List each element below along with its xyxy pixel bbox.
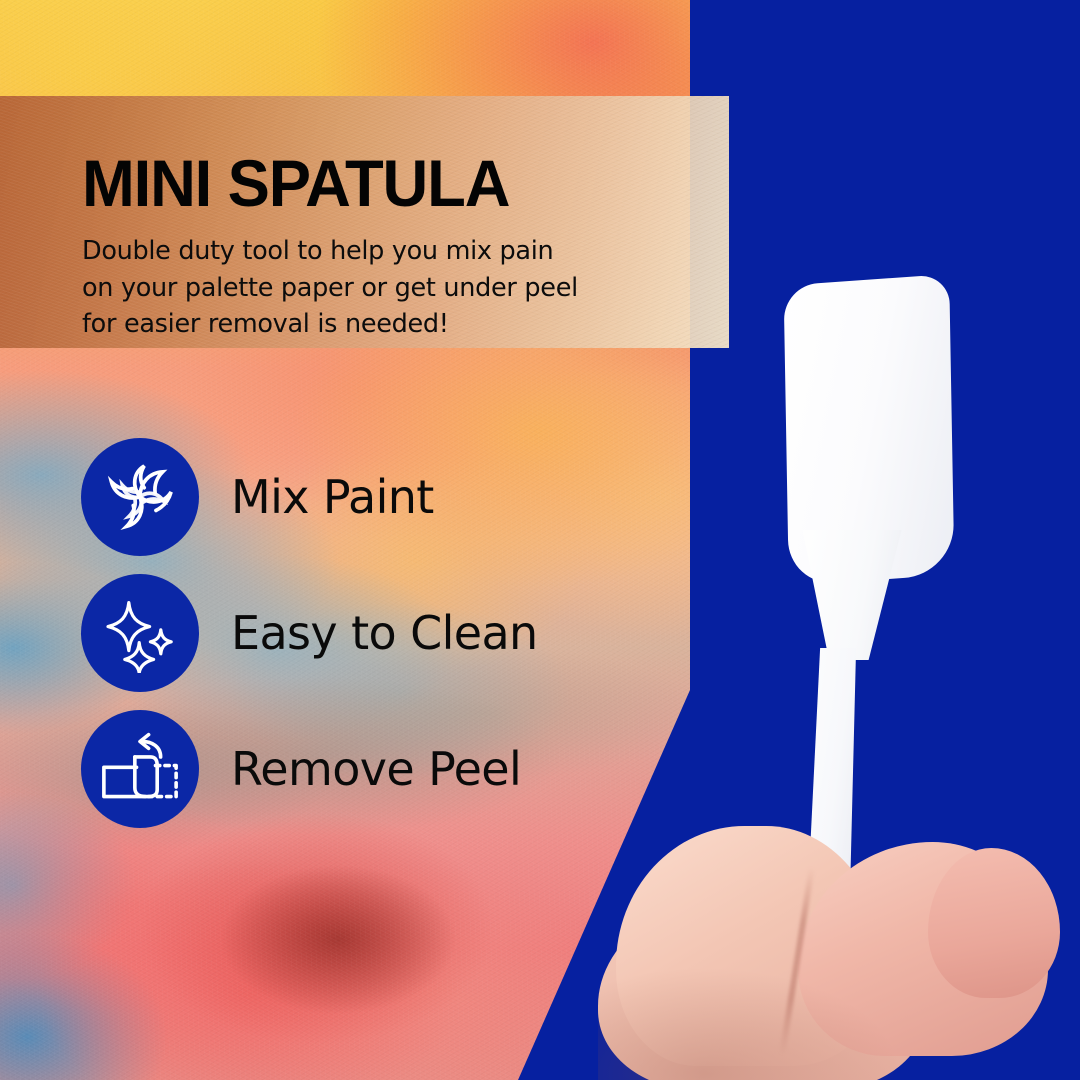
feature-label: Easy to Clean (231, 606, 538, 660)
feature-item-mix-paint: Mix Paint (81, 438, 538, 556)
feature-label: Mix Paint (231, 470, 434, 524)
product-spatula (742, 280, 972, 890)
headline-block: MINI SPATULA Double duty tool to help yo… (82, 150, 582, 342)
thumb-tip (928, 848, 1060, 998)
spatula-neck (796, 530, 906, 660)
feature-item-easy-to-clean: Easy to Clean (81, 574, 538, 692)
product-promo-canvas: MINI SPATULA Double duty tool to help yo… (0, 0, 1080, 1080)
feature-item-remove-peel: Remove Peel (81, 710, 538, 828)
swirl-mix-icon (81, 438, 199, 556)
peel-sheet-icon (81, 710, 199, 828)
feature-list: Mix Paint Easy to Clean (81, 438, 538, 828)
page-subtitle: Double duty tool to help you mix pain on… (82, 233, 578, 342)
hand-holding-product (598, 808, 1080, 1080)
feature-label: Remove Peel (231, 742, 521, 796)
page-title: MINI SPATULA (82, 150, 562, 217)
sparkles-icon (81, 574, 199, 692)
